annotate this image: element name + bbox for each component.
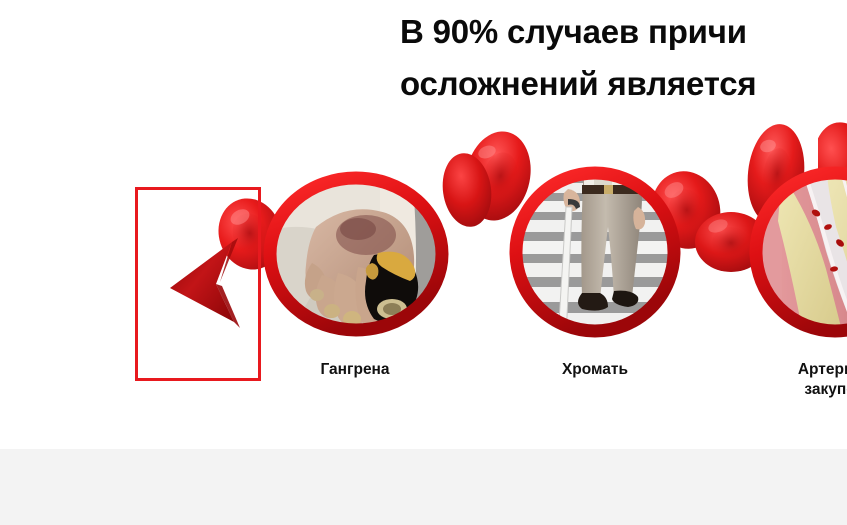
- red-blood-cell: [437, 150, 497, 230]
- gangrenous-foot-photo: [262, 171, 450, 337]
- red-arrow-pointer-icon[interactable]: [168, 236, 268, 332]
- caption-text-line-1: Артериа: [700, 360, 847, 380]
- card-image-gangrene[interactable]: [262, 171, 450, 337]
- page-canvas: В 90% случаев причи осложнений является: [0, 0, 847, 525]
- card-caption-limping: Хромать: [495, 360, 695, 380]
- caption-text: Гангрена: [320, 361, 389, 378]
- man-with-cane-on-crosswalk-photo: [508, 165, 682, 339]
- caption-text: Хромать: [562, 361, 628, 378]
- page-title-line-1: В 90% случаев причи: [400, 6, 847, 58]
- card-image-limping[interactable]: [508, 165, 682, 339]
- page-title: В 90% случаев причи осложнений является: [400, 6, 847, 110]
- card-caption-gangrene: Гангрена: [255, 360, 455, 380]
- page-title-line-2: осложнений является: [400, 58, 847, 110]
- caption-text-line-2: закупо: [700, 380, 847, 400]
- card-caption-artery-blockage: Артериа закупо: [700, 360, 847, 400]
- bottom-section-band: [0, 449, 847, 525]
